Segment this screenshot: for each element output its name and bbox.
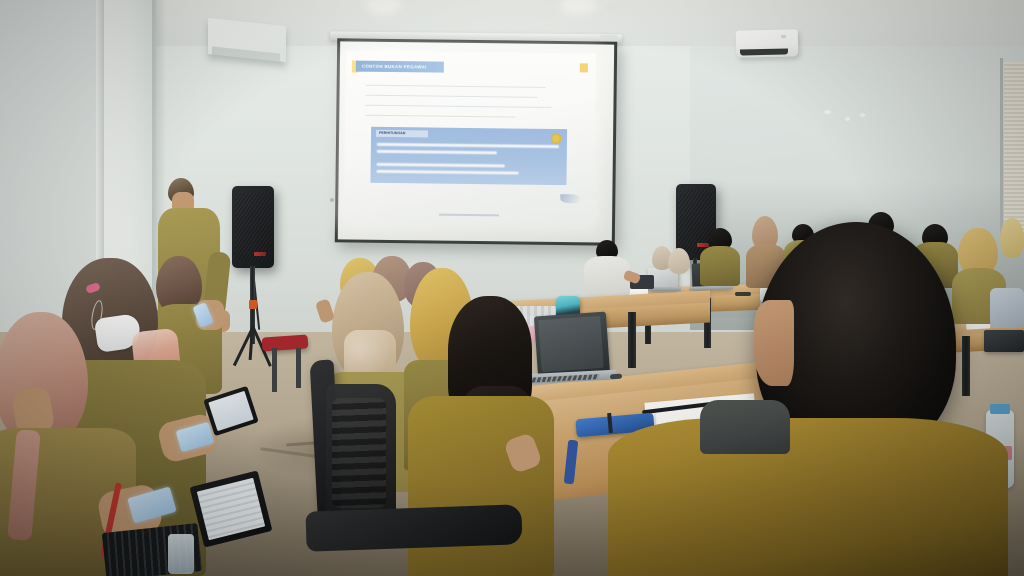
person-hijab (1000, 218, 1024, 258)
pa-speaker-left (232, 186, 274, 268)
ceiling-light (370, 0, 396, 9)
speaker-badge (254, 252, 266, 256)
office-chair-mesh-pattern (332, 398, 386, 508)
office-chair-seat (305, 504, 522, 552)
person-patterned-sleeve (990, 288, 1024, 328)
chair-leg (272, 348, 277, 392)
slide-corner-logo-icon (580, 63, 588, 72)
slide-box-label: PERHITUNGAN (376, 130, 428, 138)
slide-rule (365, 115, 515, 118)
air-conditioner-led (781, 35, 786, 38)
photo-scene: CONTOH BUKAN PEGAWAI PERHITUNGAN (0, 0, 1024, 576)
speaker-badge (697, 243, 709, 247)
mouse (610, 374, 622, 380)
person-foreground-uniform (608, 418, 1008, 576)
slide-title-text: CONTOH BUKAN PEGAWAI (356, 61, 444, 70)
person-foreground-ear-cheek (754, 300, 794, 386)
person-uniform (700, 246, 740, 286)
slide-highlight-box: PERHITUNGAN (370, 127, 567, 185)
person-hijab (668, 248, 690, 274)
air-conditioner-vent (740, 48, 788, 55)
chair-leg (296, 348, 301, 388)
slide-footer-text (439, 214, 499, 217)
projected-slide: CONTOH BUKAN PEGAWAI PERHITUNGAN (344, 50, 596, 225)
wall-mark (860, 113, 865, 117)
slide-rule (366, 85, 546, 88)
slide-box-logo-icon (551, 133, 561, 144)
desk-leg (628, 312, 636, 368)
pen (735, 292, 751, 296)
slide-box-line (377, 150, 497, 154)
laptop-display (538, 316, 603, 372)
slide-rule (366, 95, 538, 98)
smoke-detector-icon (604, 5, 616, 16)
slide-box-line (377, 170, 519, 174)
slide-rule (365, 105, 551, 108)
laptop (984, 330, 1024, 352)
water-bottle (168, 534, 194, 574)
desk-leg (962, 336, 970, 396)
window-blinds (1004, 62, 1024, 232)
wall-mark (330, 198, 334, 202)
person-foreground-collar (700, 400, 790, 454)
slide-box-label-text: PERHITUNGAN (376, 130, 428, 136)
speaker-stand-clamp (249, 300, 257, 309)
slide-box-line (377, 163, 505, 167)
ceiling-light (565, 0, 593, 9)
person-uniform (408, 396, 554, 576)
wall-mark (824, 110, 831, 114)
slide-swoosh-graphic (560, 194, 580, 203)
wall-mark (845, 117, 850, 121)
bottle-cap (990, 404, 1010, 414)
slide-title-banner: CONTOH BUKAN PEGAWAI (356, 61, 444, 73)
slide-box-line (377, 143, 559, 148)
